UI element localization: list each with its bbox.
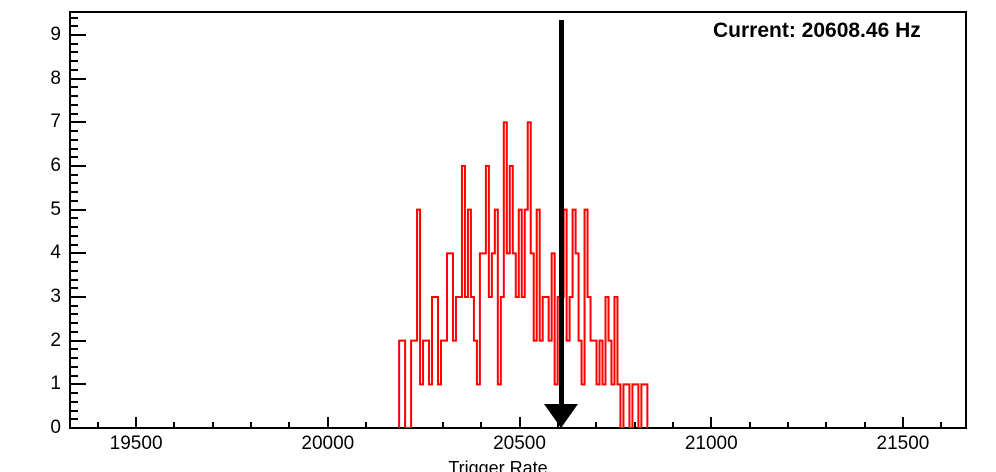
x-tick-label: 21000 xyxy=(631,434,791,453)
current-rate-readout: Current: 20608.46 Hz xyxy=(713,19,921,43)
x-tick-label: 21500 xyxy=(823,434,983,453)
y-tick-label: 2 xyxy=(5,331,61,350)
root-canvas: 0123456789 1950020000205002100021500 Cur… xyxy=(0,0,996,472)
y-tick-label: 3 xyxy=(5,287,61,306)
x-axis-title: Trigger Rate xyxy=(0,458,996,472)
histogram-series xyxy=(69,11,967,428)
histogram-outline xyxy=(399,122,647,428)
x-tick-label: 19500 xyxy=(56,434,216,453)
current-marker-line xyxy=(559,20,564,410)
y-tick-label: 0 xyxy=(5,418,61,437)
y-tick-label: 1 xyxy=(5,374,61,393)
y-tick-label: 5 xyxy=(5,200,61,219)
y-tick-label: 7 xyxy=(5,112,61,131)
y-tick-label: 9 xyxy=(5,25,61,44)
x-tick-label: 20000 xyxy=(248,434,408,453)
y-tick-label: 6 xyxy=(5,156,61,175)
current-marker-arrowhead xyxy=(544,404,578,428)
y-tick-label: 8 xyxy=(5,69,61,88)
y-tick-label: 4 xyxy=(5,243,61,262)
x-tick-label: 20500 xyxy=(440,434,600,453)
